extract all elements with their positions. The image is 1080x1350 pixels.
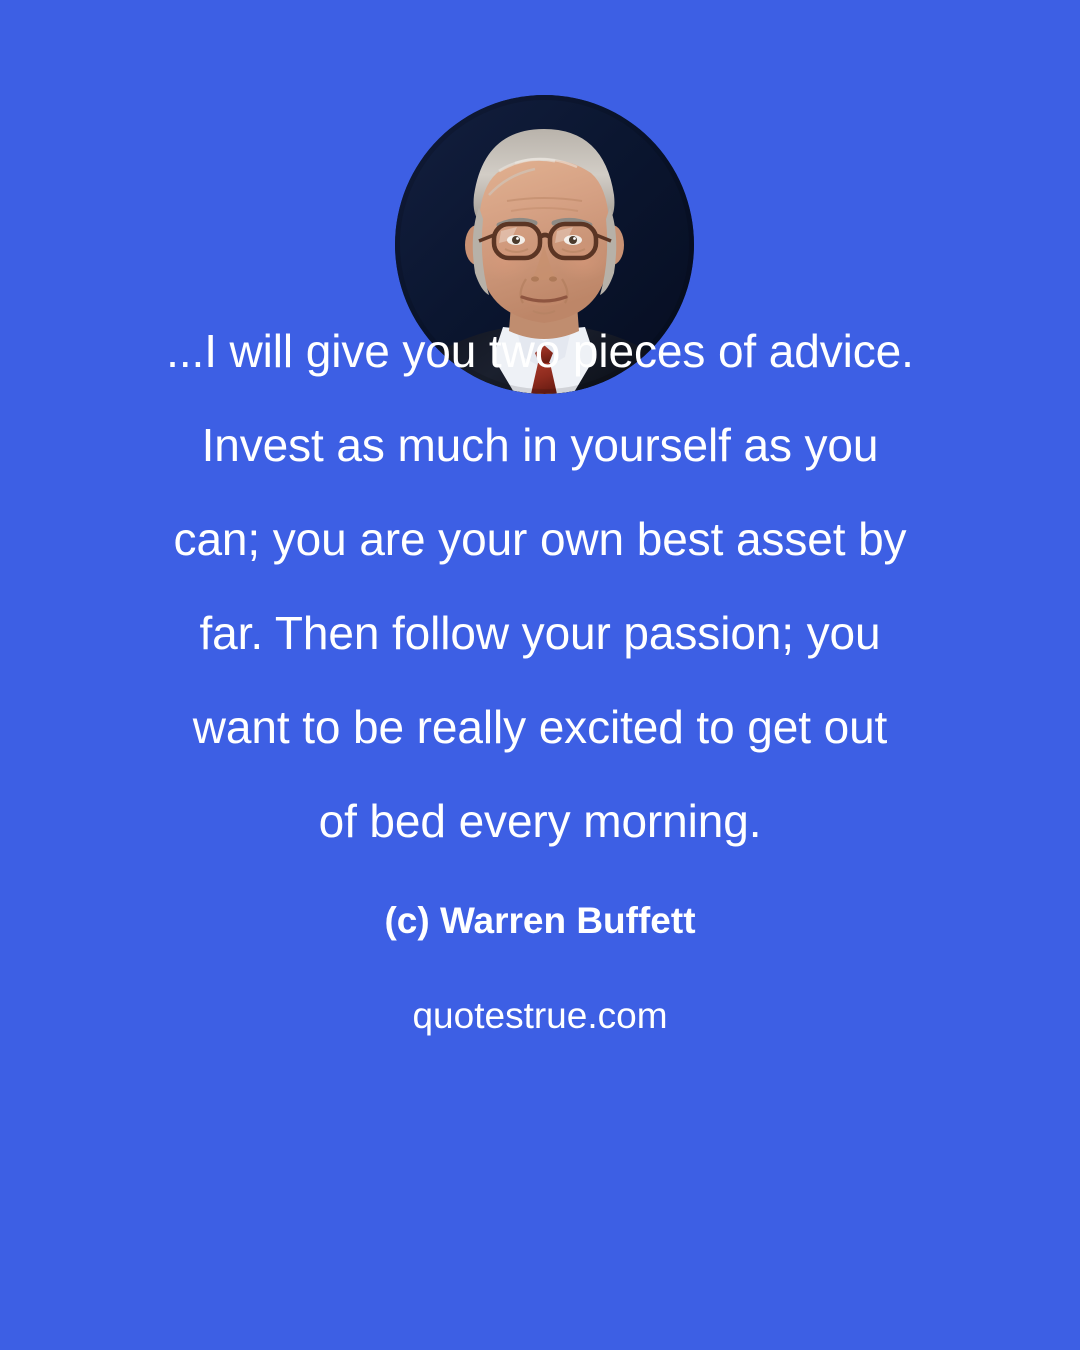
quote-line: want to be really excited to get out bbox=[60, 680, 1020, 774]
quote-line: of bed every morning. bbox=[60, 774, 1020, 868]
quote-line: can; you are your own best asset by bbox=[60, 492, 1020, 586]
quote-line: ...I will give you two pieces of advice. bbox=[60, 304, 1020, 398]
quote-attribution: (c) Warren Buffett bbox=[0, 897, 1080, 945]
quote-text: ...I will give you two pieces of advice.… bbox=[0, 304, 1080, 868]
quote-card: ...I will give you two pieces of advice.… bbox=[0, 0, 1080, 1350]
website-label: quotestrue.com bbox=[0, 992, 1080, 1040]
quote-line: Invest as much in yourself as you bbox=[60, 398, 1020, 492]
quote-line: far. Then follow your passion; you bbox=[60, 586, 1020, 680]
